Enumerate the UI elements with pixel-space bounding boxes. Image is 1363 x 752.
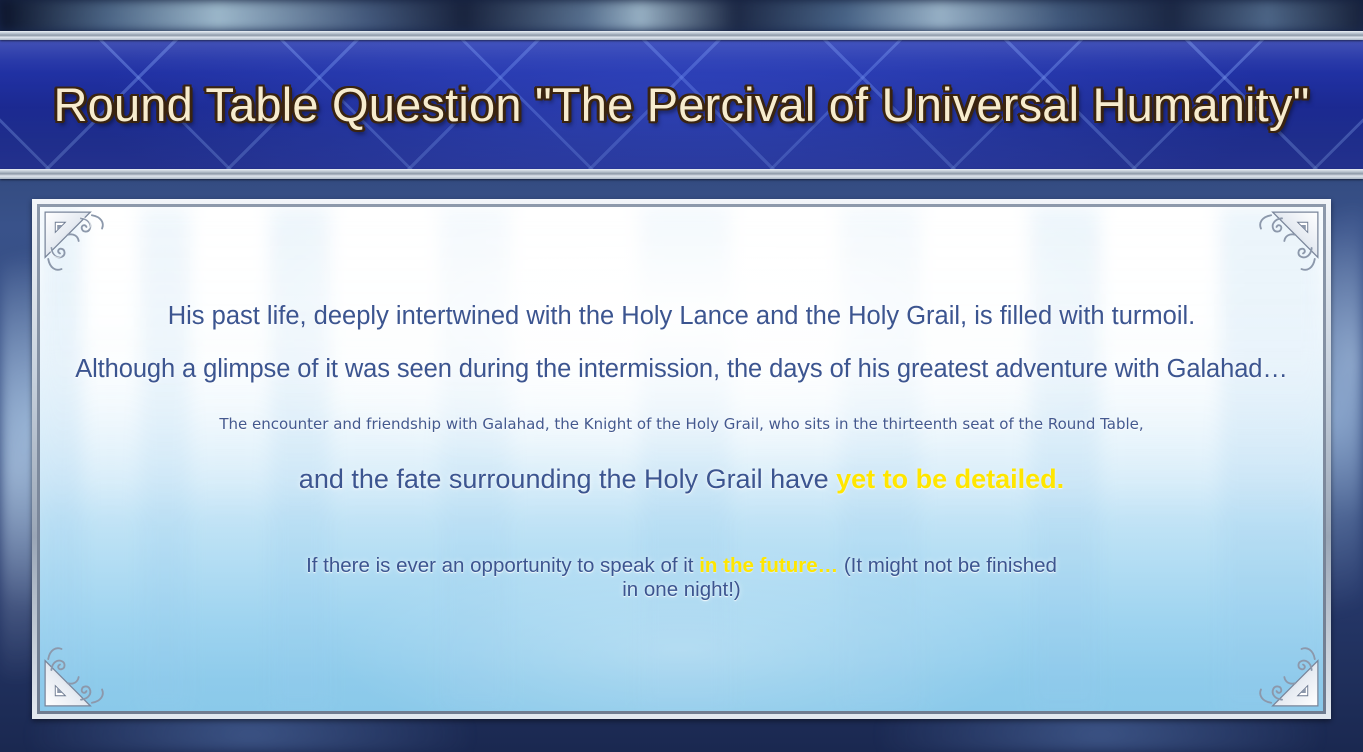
page-title: Round Table Question "The Percival of Un…	[0, 39, 1363, 170]
screenshot-stage: Round Table Question "The Percival of Un…	[0, 0, 1363, 752]
body-paragraph-highlight: in the future…	[699, 554, 838, 577]
panel-text-content: His past life, deeply intertwined with t…	[40, 207, 1323, 711]
body-line-4-highlight: yet to be detailed.	[836, 464, 1064, 494]
body-line-1: His past life, deeply intertwined with t…	[40, 302, 1323, 331]
body-line-4-prefix: and the fate surrounding the Holy Grail …	[299, 464, 836, 494]
body-paragraph: If there is ever an opportunity to speak…	[302, 554, 1062, 602]
body-line-4: and the fate surrounding the Holy Grail …	[40, 464, 1323, 495]
banner-background: Round Table Question "The Percival of Un…	[0, 39, 1363, 170]
content-panel: His past life, deeply intertwined with t…	[32, 199, 1331, 719]
background-top-strip-overlay	[0, 0, 1363, 31]
panel-surface: His past life, deeply intertwined with t…	[40, 207, 1323, 711]
body-line-3-small: The encounter and friendship with Galaha…	[40, 415, 1323, 433]
title-banner: Round Table Question "The Percival of Un…	[0, 31, 1363, 178]
body-paragraph-prefix: If there is ever an opportunity to speak…	[306, 554, 699, 577]
banner-bottom-rule	[0, 169, 1363, 179]
body-line-2: Although a glimpse of it was seen during…	[40, 355, 1323, 384]
banner-top-rule	[0, 31, 1363, 40]
